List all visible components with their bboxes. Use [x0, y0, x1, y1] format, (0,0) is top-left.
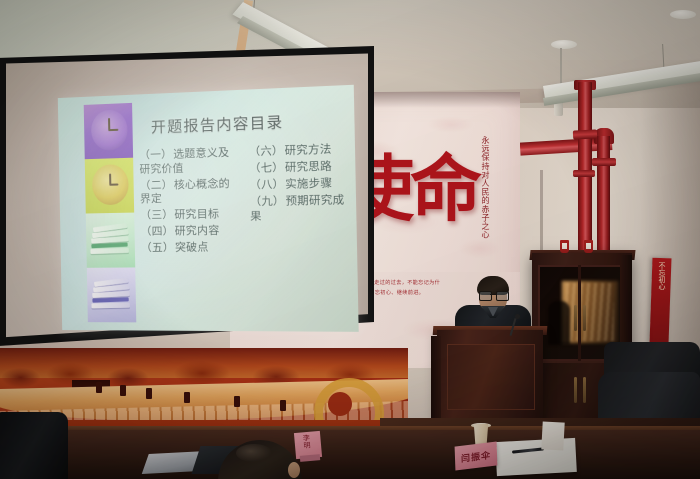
toc-num-1: （一） [139, 148, 172, 161]
fire-pipe-flange [573, 170, 595, 177]
speaking-podium [437, 330, 543, 428]
trophy-icon [584, 240, 593, 253]
projected-slide: 开题报告内容目录 （一）选题意义及研究价值 （二）核心概念的界定 （三）研究目标… [58, 85, 359, 332]
slide-table-of-contents: （一）选题意义及研究价值 （二）核心概念的界定 （三）研究目标 （四）研究内容 … [139, 142, 355, 258]
red-wall-banner-text: 不忘初心 [653, 262, 667, 290]
banner-vertical-text: 永远保持对人民的赤子之心 [476, 136, 491, 239]
glasses-icon [479, 291, 507, 299]
podium-front-panel [447, 344, 535, 410]
clock-icon [92, 164, 129, 205]
audience-ear [288, 462, 300, 478]
slide-photo-books-green [86, 213, 135, 268]
mural-merlon [234, 396, 240, 407]
toc-num-5: （五） [141, 242, 174, 255]
cabinet-handle[interactable] [583, 377, 586, 403]
mural-gear-hub [328, 392, 352, 416]
cabinet-handle[interactable] [574, 305, 577, 331]
mural-merlon [184, 392, 190, 403]
toc-item-4: （四）研究内容 [141, 224, 240, 239]
clock-icon [91, 109, 128, 151]
slide-content-wrap: 开题报告内容目录 （一）选题意义及研究价值 （二）核心概念的界定 （三）研究目标… [58, 85, 359, 332]
slide-photo-strip [84, 103, 137, 325]
audience-hair-highlight [236, 444, 272, 462]
toc-item-8: （八）实施步骤 [249, 176, 353, 193]
conference-room-photo: ↑ ↑ ↑ ↑ ↓ 使命 永远保持对人民的赤子之心 初心 走得再远、走到再光辉的… [0, 0, 700, 479]
table-card-stand [541, 421, 564, 450]
cabinet-handle[interactable] [574, 377, 577, 403]
toc-text-3: 研究目标 [174, 208, 219, 221]
conference-table-front [0, 430, 700, 479]
mural-merlon [146, 388, 152, 399]
chair-left-foreground [0, 412, 68, 479]
cabinet-handle[interactable] [583, 305, 586, 331]
toc-num-4: （四） [141, 225, 174, 238]
toc-num-9: （九） [250, 195, 285, 208]
toc-text-6: 研究方法 [284, 143, 331, 157]
toc-item-1: （一）选题意义及研究价值 [139, 146, 239, 177]
fire-pipe-flange [573, 129, 597, 139]
fire-pipe-flange [592, 158, 616, 166]
toc-num-8: （八） [249, 178, 284, 191]
toc-item-3: （三）研究目标 [140, 207, 239, 223]
mural-merlon [280, 400, 286, 411]
book-stack-icon [89, 223, 132, 258]
toc-num-7: （七） [249, 161, 284, 175]
toc-column-right: （六）研究方法 （七）研究思路 （八）实施步骤 （九）预期研究成果 [249, 142, 355, 257]
toc-item-5: （五）突破点 [141, 241, 240, 256]
toc-text-7: 研究思路 [285, 160, 332, 174]
toc-text-5: 突破点 [175, 241, 209, 254]
slide-photo-clock-purple [84, 103, 133, 159]
slide-title: 开题报告内容目录 [151, 108, 349, 137]
slide-photo-clock-yellow [85, 158, 134, 214]
book-stack-icon [90, 278, 133, 313]
toc-item-2: （二）核心概念的界定 [140, 177, 240, 207]
toc-column-left: （一）选题意义及研究价值 （二）核心概念的界定 （三）研究目标 （四）研究内容 … [139, 146, 240, 258]
toc-num-6: （六） [249, 145, 284, 159]
toc-num-2: （二） [140, 178, 173, 191]
podium-side-panel [431, 336, 441, 428]
toc-num-3: （三） [140, 209, 173, 222]
mural-merlon [96, 382, 102, 393]
toc-text-4: 研究内容 [175, 224, 220, 237]
slide-photo-books-blue [87, 267, 136, 322]
toc-item-7: （七）研究思路 [249, 159, 353, 176]
mural-merlon [120, 385, 126, 396]
nameplate-right-text: 闫振伞 [461, 448, 491, 465]
ceiling-mount-icon [670, 10, 696, 19]
toc-text-8: 实施步骤 [285, 177, 332, 191]
microphone-icon [515, 314, 520, 319]
toc-item-6: （六）研究方法 [249, 142, 353, 159]
nameplate-right: 闫振伞 [455, 441, 498, 470]
toc-item-9: （九）预期研究成果 [250, 193, 354, 223]
ceiling-mount-icon [551, 40, 577, 49]
nameplate-left-text: 李明 [301, 434, 312, 450]
trophy-icon [560, 240, 569, 253]
paper-document[interactable] [495, 438, 577, 476]
glass-dark-reflection [548, 301, 570, 345]
